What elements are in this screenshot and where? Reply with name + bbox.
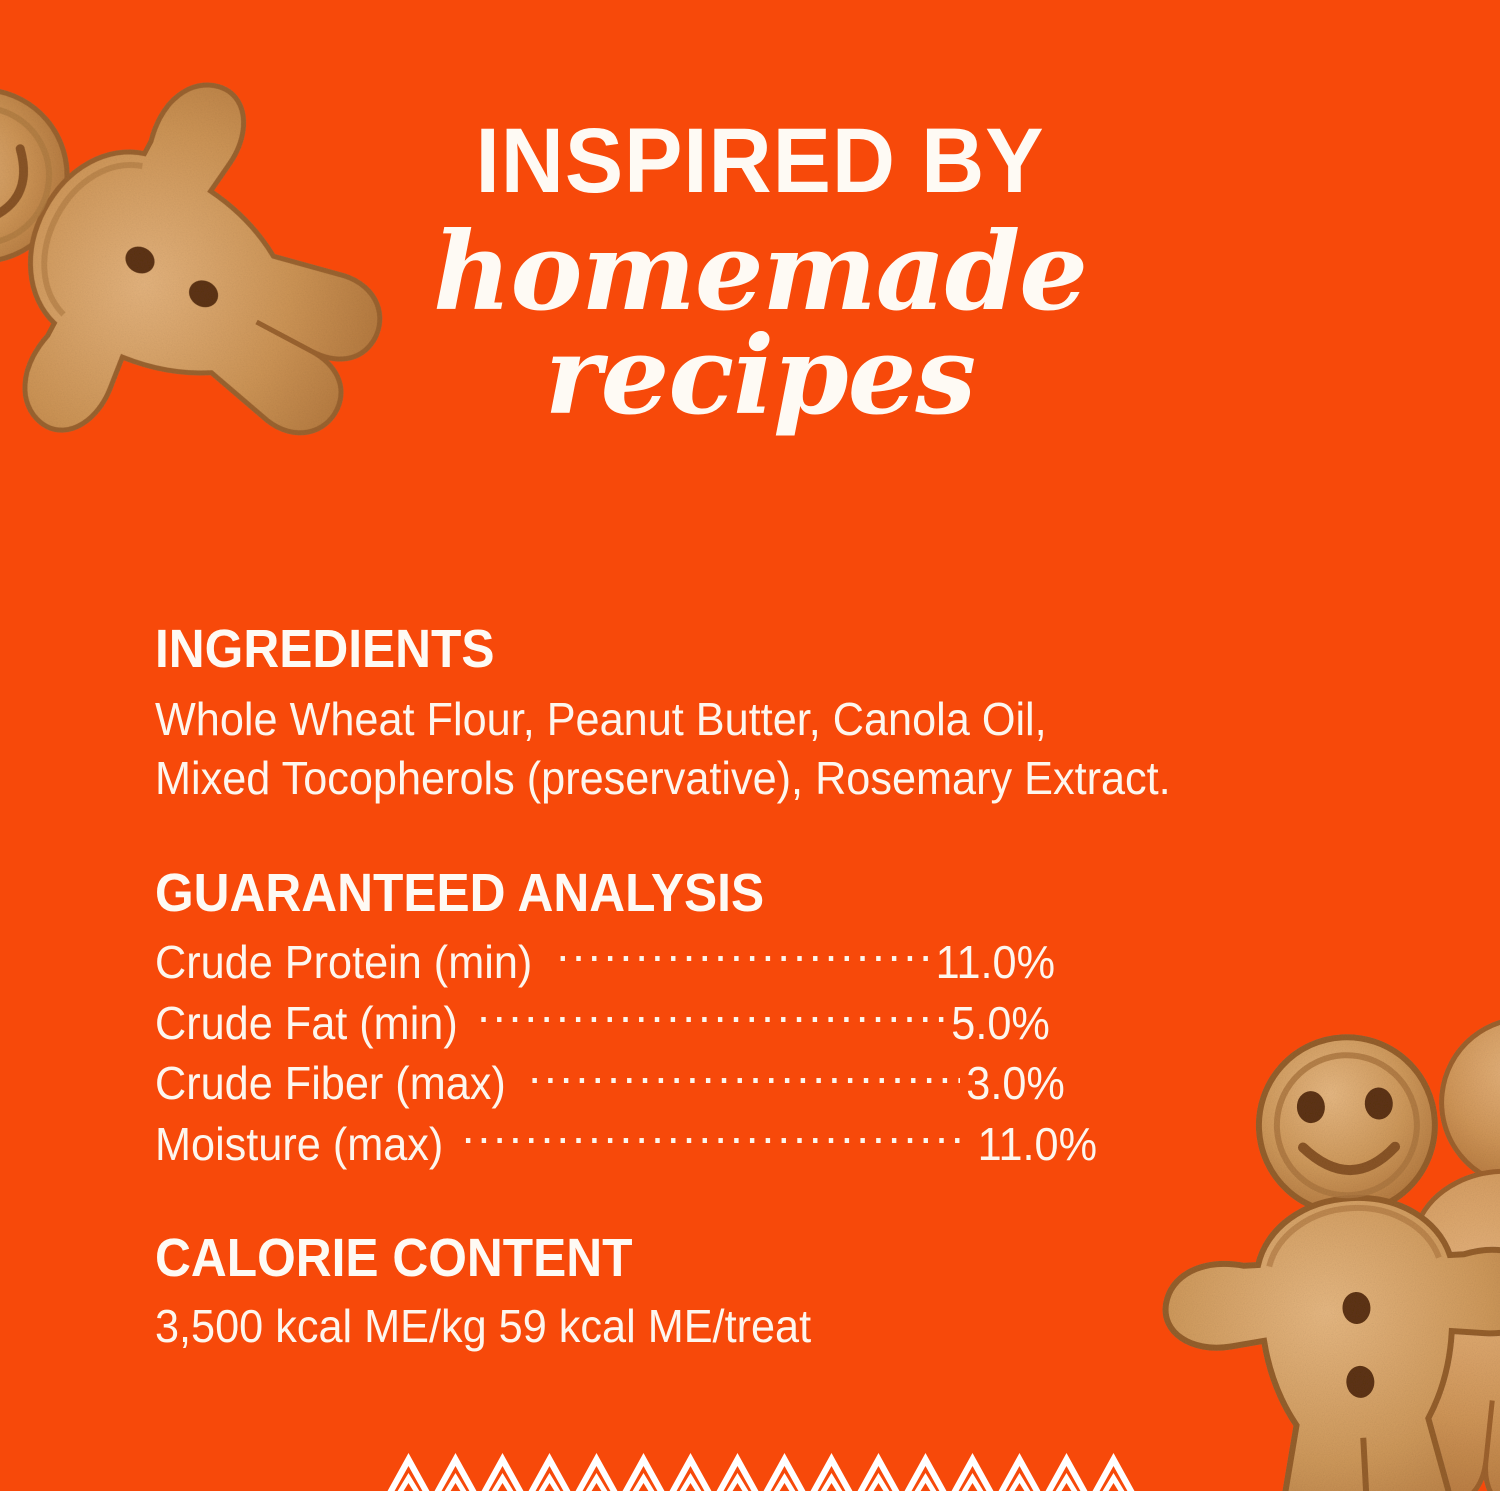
calorie-content-heading: CALORIE CONTENT: [155, 1231, 1204, 1285]
analysis-row-label: Crude Fat (min): [155, 994, 458, 1054]
headline-recipes: recipes: [430, 327, 1090, 426]
analysis-row-label: Moisture (max): [155, 1115, 443, 1175]
nutrition-info-panel: INGREDIENTS Whole Wheat Flour, Peanut Bu…: [155, 622, 1295, 1356]
dot-leader: [462, 1114, 970, 1160]
analysis-row-label: Crude Fiber (max): [155, 1054, 506, 1114]
guaranteed-analysis-heading: GUARANTEED ANALYSIS: [155, 866, 1204, 920]
ingredients-section: INGREDIENTS Whole Wheat Flour, Peanut Bu…: [155, 622, 1295, 808]
ingredients-line: Whole Wheat Flour, Peanut Butter, Canola…: [155, 690, 1227, 749]
analysis-row: Crude Fiber (max) 3.0%: [155, 1053, 1295, 1114]
chevron-border-pattern: [385, 1452, 1137, 1492]
calorie-content-line: 3,500 kcal ME/kg 59 kcal ME/treat: [155, 1297, 1227, 1356]
guaranteed-analysis-rows: Crude Protein (min) 11.0% Crude Fat (min…: [155, 932, 1295, 1175]
analysis-row-value: 11.0%: [977, 1115, 1096, 1175]
analysis-row-label: Crude Protein (min): [155, 933, 532, 993]
headline-inspired-by: INSPIRED BY: [447, 118, 1074, 205]
calorie-content-section: CALORIE CONTENT 3,500 kcal ME/kg 59 kcal…: [155, 1231, 1295, 1356]
bottom-white-strip: [0, 1491, 1500, 1500]
analysis-row: Moisture (max) 11.0%: [155, 1114, 1295, 1175]
ingredients-line: Mixed Tocopherols (preservative), Rosema…: [155, 749, 1227, 808]
analysis-row-value: 11.0%: [936, 933, 1055, 993]
headline-homemade: homemade: [430, 223, 1090, 322]
cookie-eye-right: [1364, 1087, 1394, 1120]
ingredients-heading: INGREDIENTS: [155, 622, 1204, 676]
calorie-content-body: 3,500 kcal ME/kg 59 kcal ME/treat: [155, 1297, 1295, 1356]
analysis-row-value: 5.0%: [951, 994, 1050, 1054]
headline-script-block: homemade recipes: [430, 223, 1090, 426]
gingerbread-cookie-icon: [0, 0, 400, 560]
analysis-row: Crude Protein (min) 11.0%: [155, 932, 1295, 993]
analysis-row: Crude Fat (min) 5.0%: [155, 993, 1295, 1054]
cookie-eye-left: [1296, 1090, 1326, 1123]
dot-leader: [477, 993, 945, 1039]
guaranteed-analysis-section: GUARANTEED ANALYSIS Crude Protein (min) …: [155, 866, 1295, 1175]
product-label-panel: INSPIRED BY homemade recipes INGREDIENTS…: [0, 0, 1500, 1500]
ingredients-body: Whole Wheat Flour, Peanut Butter, Canola…: [155, 690, 1295, 808]
dot-leader: [528, 1053, 960, 1099]
gingerbread-man-cookie-top-left: [0, 0, 400, 560]
analysis-row-value: 3.0%: [966, 1054, 1065, 1114]
chevron-pattern-icon: [385, 1452, 1137, 1492]
dot-leader: [556, 932, 928, 978]
headline-block: INSPIRED BY homemade recipes: [430, 118, 1090, 426]
